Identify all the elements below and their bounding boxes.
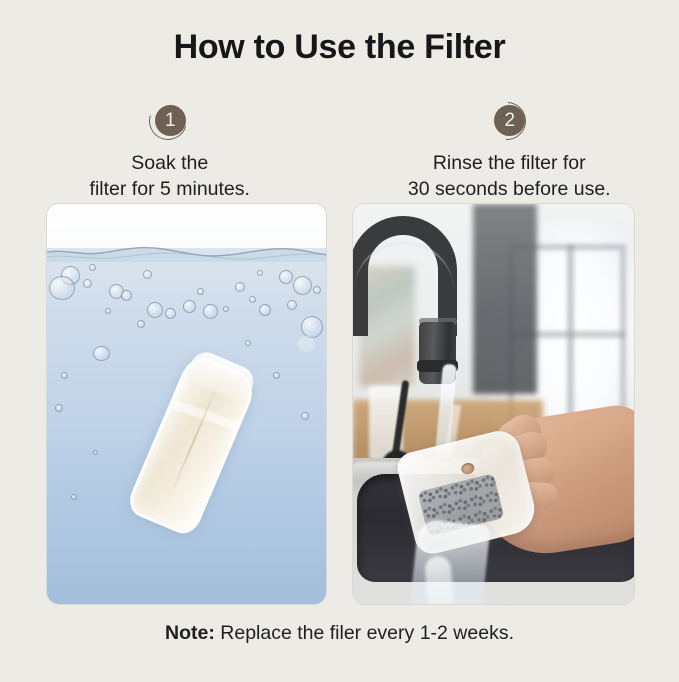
- bubble: [197, 288, 204, 295]
- bubble: [301, 412, 309, 420]
- page-title: How to Use the Filter: [0, 28, 679, 67]
- bubble: [147, 302, 163, 318]
- bubble: [55, 404, 63, 412]
- bubble: [93, 450, 98, 455]
- water-surface-line: [46, 242, 327, 262]
- steps-row: 1 Soak the filter for 5 minutes. 2 Rinse…: [0, 100, 679, 202]
- bubble: [203, 304, 218, 319]
- note-line: Note: Replace the filer every 1-2 weeks.: [0, 622, 679, 645]
- step-2-caption: Rinse the filter for 30 seconds before u…: [408, 151, 611, 202]
- bubble: [287, 300, 297, 310]
- bubble: [121, 290, 132, 301]
- bubble: [249, 296, 256, 303]
- bubble: [235, 282, 245, 292]
- bubble: [49, 276, 75, 300]
- step-2-image-card: [352, 203, 635, 605]
- dark-cabinet: [473, 204, 537, 394]
- bubble: [245, 340, 251, 346]
- bubble: [223, 306, 229, 312]
- bubble: [293, 276, 312, 295]
- step-2: 2 Rinse the filter for 30 seconds before…: [340, 100, 679, 202]
- bubble: [165, 308, 176, 319]
- bubble: [71, 494, 77, 500]
- note-label: Note:: [165, 622, 215, 644]
- bubble: [183, 300, 196, 313]
- step-1: 1 Soak the filter for 5 minutes.: [0, 100, 340, 202]
- bubble: [257, 270, 263, 276]
- step-1-caption: Soak the filter for 5 minutes.: [90, 151, 250, 202]
- bubble: [143, 270, 152, 279]
- bubble: [61, 372, 68, 379]
- bubble: [137, 320, 145, 328]
- note-text: Replace the filer every 1-2 weeks.: [215, 622, 514, 644]
- bubble: [313, 286, 321, 294]
- bubble: [89, 264, 96, 271]
- step-2-badge: 2: [486, 100, 532, 142]
- bubble: [83, 279, 92, 288]
- bubble: [279, 270, 293, 284]
- bubble: [259, 304, 271, 316]
- step-1-badge: 1: [147, 100, 193, 142]
- bubble: [273, 372, 280, 379]
- step-1-image-card: [46, 203, 327, 605]
- step-1-number: 1: [155, 105, 186, 136]
- bubble-cluster: [297, 336, 315, 352]
- bubble: [93, 346, 110, 361]
- bubble: [301, 316, 323, 338]
- faucet: [352, 210, 479, 390]
- bubble: [105, 308, 111, 314]
